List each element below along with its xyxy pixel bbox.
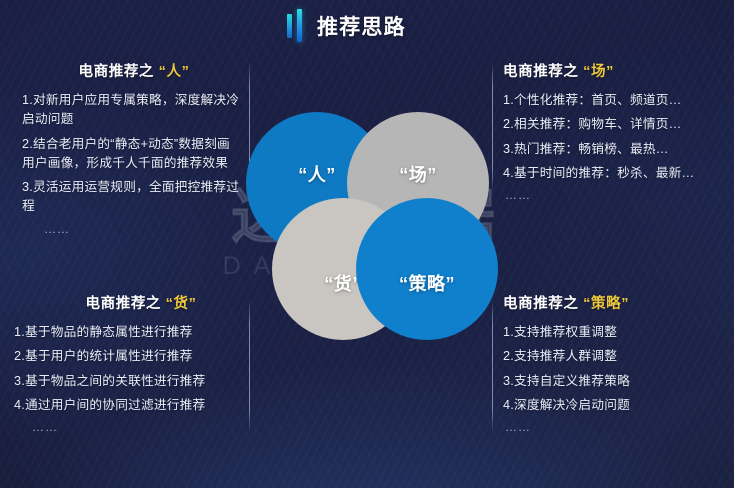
ellipsis-ren: …… xyxy=(44,222,240,236)
list-item: 4.通过用户间的协同过滤进行推荐 xyxy=(14,396,246,415)
list-item: 3.热门推荐：畅销榜、最热… xyxy=(503,140,727,159)
block-heading-celue: 电商推荐之 “策略” xyxy=(503,292,727,313)
block-heading-chang: 电商推荐之 “场” xyxy=(503,60,727,81)
heading-highlight-ren: “人” xyxy=(159,64,190,80)
text-block-celue: 电商推荐之 “策略” 1.支持推荐权重调整 2.支持推荐人群调整 3.支持自定义… xyxy=(503,292,727,434)
heading-prefix-huo: 电商推荐之 xyxy=(86,296,166,312)
heading-prefix-chang: 电商推荐之 xyxy=(503,64,583,80)
list-item: 2.基于用户的统计属性进行推荐 xyxy=(14,347,246,366)
list-item: 3.灵活运用运营规则，全面把控推荐过程 xyxy=(22,178,240,217)
block-heading-huo: 电商推荐之 “货” xyxy=(14,292,246,313)
heading-prefix-celue: 电商推荐之 xyxy=(503,296,583,312)
slide-header: 推荐思路 xyxy=(0,0,734,52)
list-item: 2.结合老用户的“静态+动态”数据刻画用户画像，形成千人千面的推荐效果 xyxy=(22,135,240,174)
venn-label-celue: “策略” xyxy=(399,270,455,296)
venn-label-ren: “人” xyxy=(298,161,336,187)
two-vertical-bars-icon xyxy=(287,9,302,43)
bar-left-icon xyxy=(287,14,292,38)
list-item: 1.对新用户应用专属策略，深度解决冷启动问题 xyxy=(22,91,240,130)
ellipsis-celue: …… xyxy=(505,420,727,434)
heading-highlight-huo: “货” xyxy=(166,296,197,312)
list-item: 4.基于时间的推荐：秒杀、最新… xyxy=(503,164,727,183)
heading-highlight-celue: “策略” xyxy=(583,296,629,312)
text-block-huo: 电商推荐之 “货” 1.基于物品的静态属性进行推荐 2.基于用户的统计属性进行推… xyxy=(14,292,246,434)
list-item: 1.基于物品的静态属性进行推荐 xyxy=(14,323,246,342)
venn-diagram: “人” “场” “货” “策略” xyxy=(246,112,496,340)
list-item: 4.深度解决冷启动问题 xyxy=(503,396,727,415)
heading-prefix-ren: 电商推荐之 xyxy=(79,64,159,80)
list-item: 1.支持推荐权重调整 xyxy=(503,323,727,342)
ellipsis-chang: …… xyxy=(505,188,727,202)
slide-canvas: 推荐思路 达观数据 DATA GRAND “人” “场” “货” “策略” 电商… xyxy=(0,0,734,488)
list-item: 2.支持推荐人群调整 xyxy=(503,347,727,366)
block-heading-ren: 电商推荐之 “人” xyxy=(22,60,240,81)
list-item: 2.相关推荐：购物车、详情页… xyxy=(503,115,727,134)
venn-label-chang: “场” xyxy=(399,161,437,187)
list-item: 1.个性化推荐：首页、频道页… xyxy=(503,91,727,110)
bar-right-icon xyxy=(297,9,302,42)
header-inner: 推荐思路 xyxy=(287,9,406,43)
text-block-chang: 电商推荐之 “场” 1.个性化推荐：首页、频道页… 2.相关推荐：购物车、详情页… xyxy=(503,60,727,202)
page-title: 推荐思路 xyxy=(317,11,406,41)
heading-highlight-chang: “场” xyxy=(583,64,614,80)
list-item: 3.支持自定义推荐策略 xyxy=(503,372,727,391)
ellipsis-huo: …… xyxy=(32,420,246,434)
text-block-ren: 电商推荐之 “人” 1.对新用户应用专属策略，深度解决冷启动问题 2.结合老用户… xyxy=(22,60,240,236)
venn-circle-celue: “策略” xyxy=(356,198,498,340)
list-item: 3.基于物品之间的关联性进行推荐 xyxy=(14,372,246,391)
